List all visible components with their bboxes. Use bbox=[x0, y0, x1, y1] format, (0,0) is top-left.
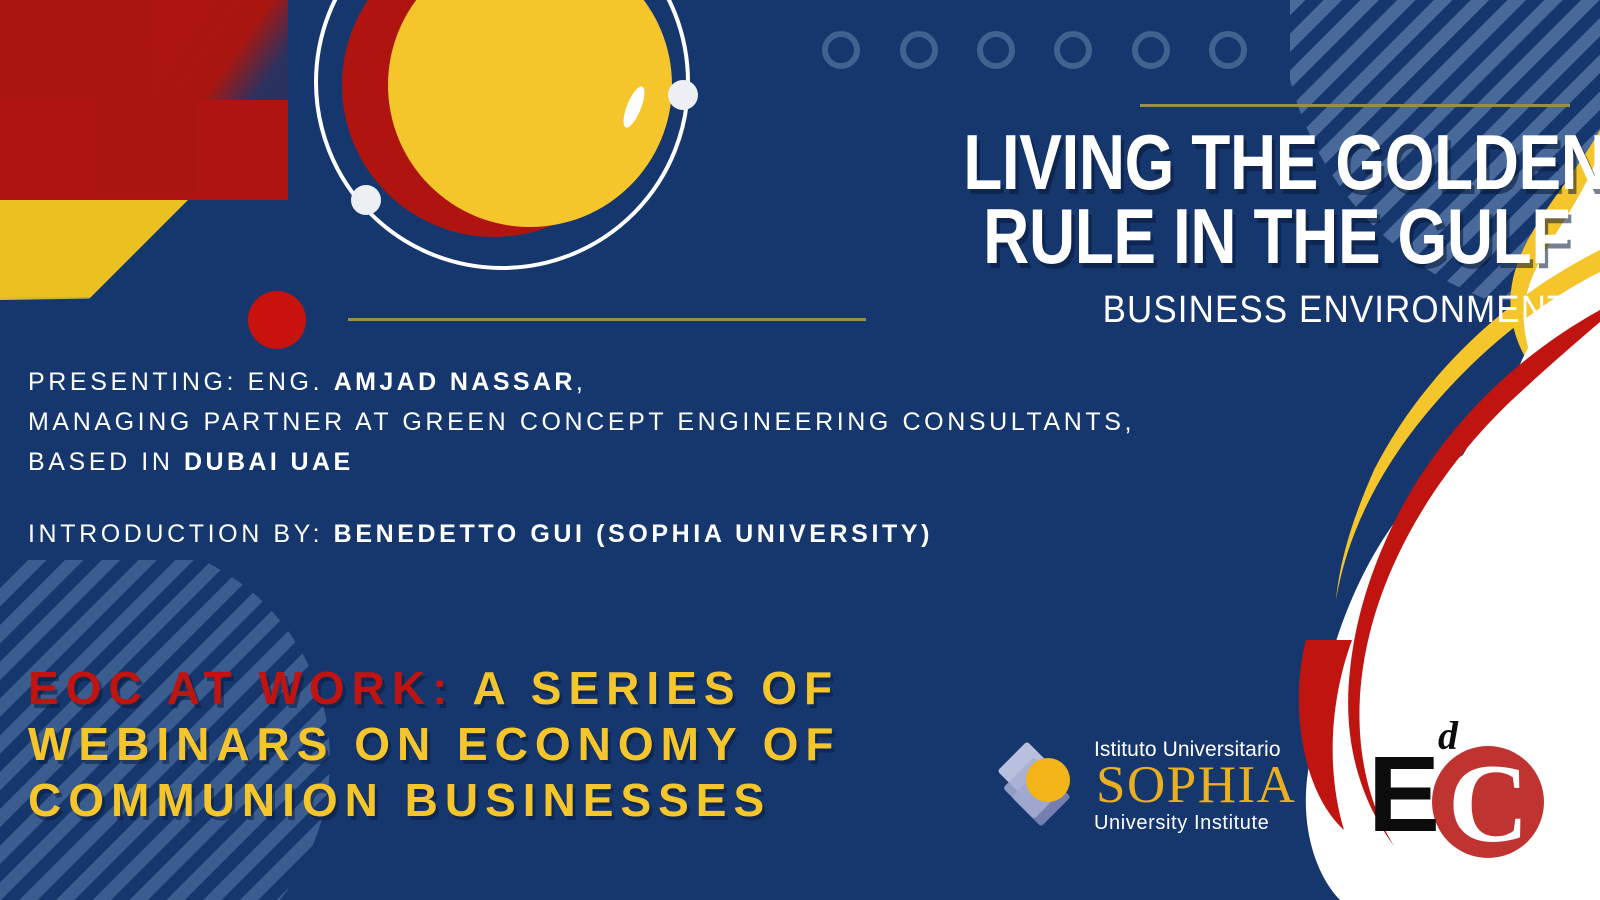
webinar-promo-poster: LIVING THE GOLDEN RULE IN THE GULF BUSIN… bbox=[0, 0, 1600, 900]
eoc-letter-c: C bbox=[1448, 748, 1529, 860]
sophia-university-logo: Istituto Universitario SOPHIA University… bbox=[996, 728, 1326, 844]
eoc-letter-e: E bbox=[1368, 740, 1438, 848]
sophia-line-bottom: University Institute bbox=[1094, 813, 1296, 833]
sophia-line-middle: SOPHIA bbox=[1096, 761, 1296, 811]
logo-row: Istituto Universitario SOPHIA University… bbox=[0, 0, 1600, 900]
sophia-diamond-icon bbox=[996, 736, 1088, 836]
sophia-wordmark: Istituto Universitario SOPHIA University… bbox=[1094, 739, 1296, 833]
eoc-logo: E d C bbox=[1368, 712, 1548, 862]
